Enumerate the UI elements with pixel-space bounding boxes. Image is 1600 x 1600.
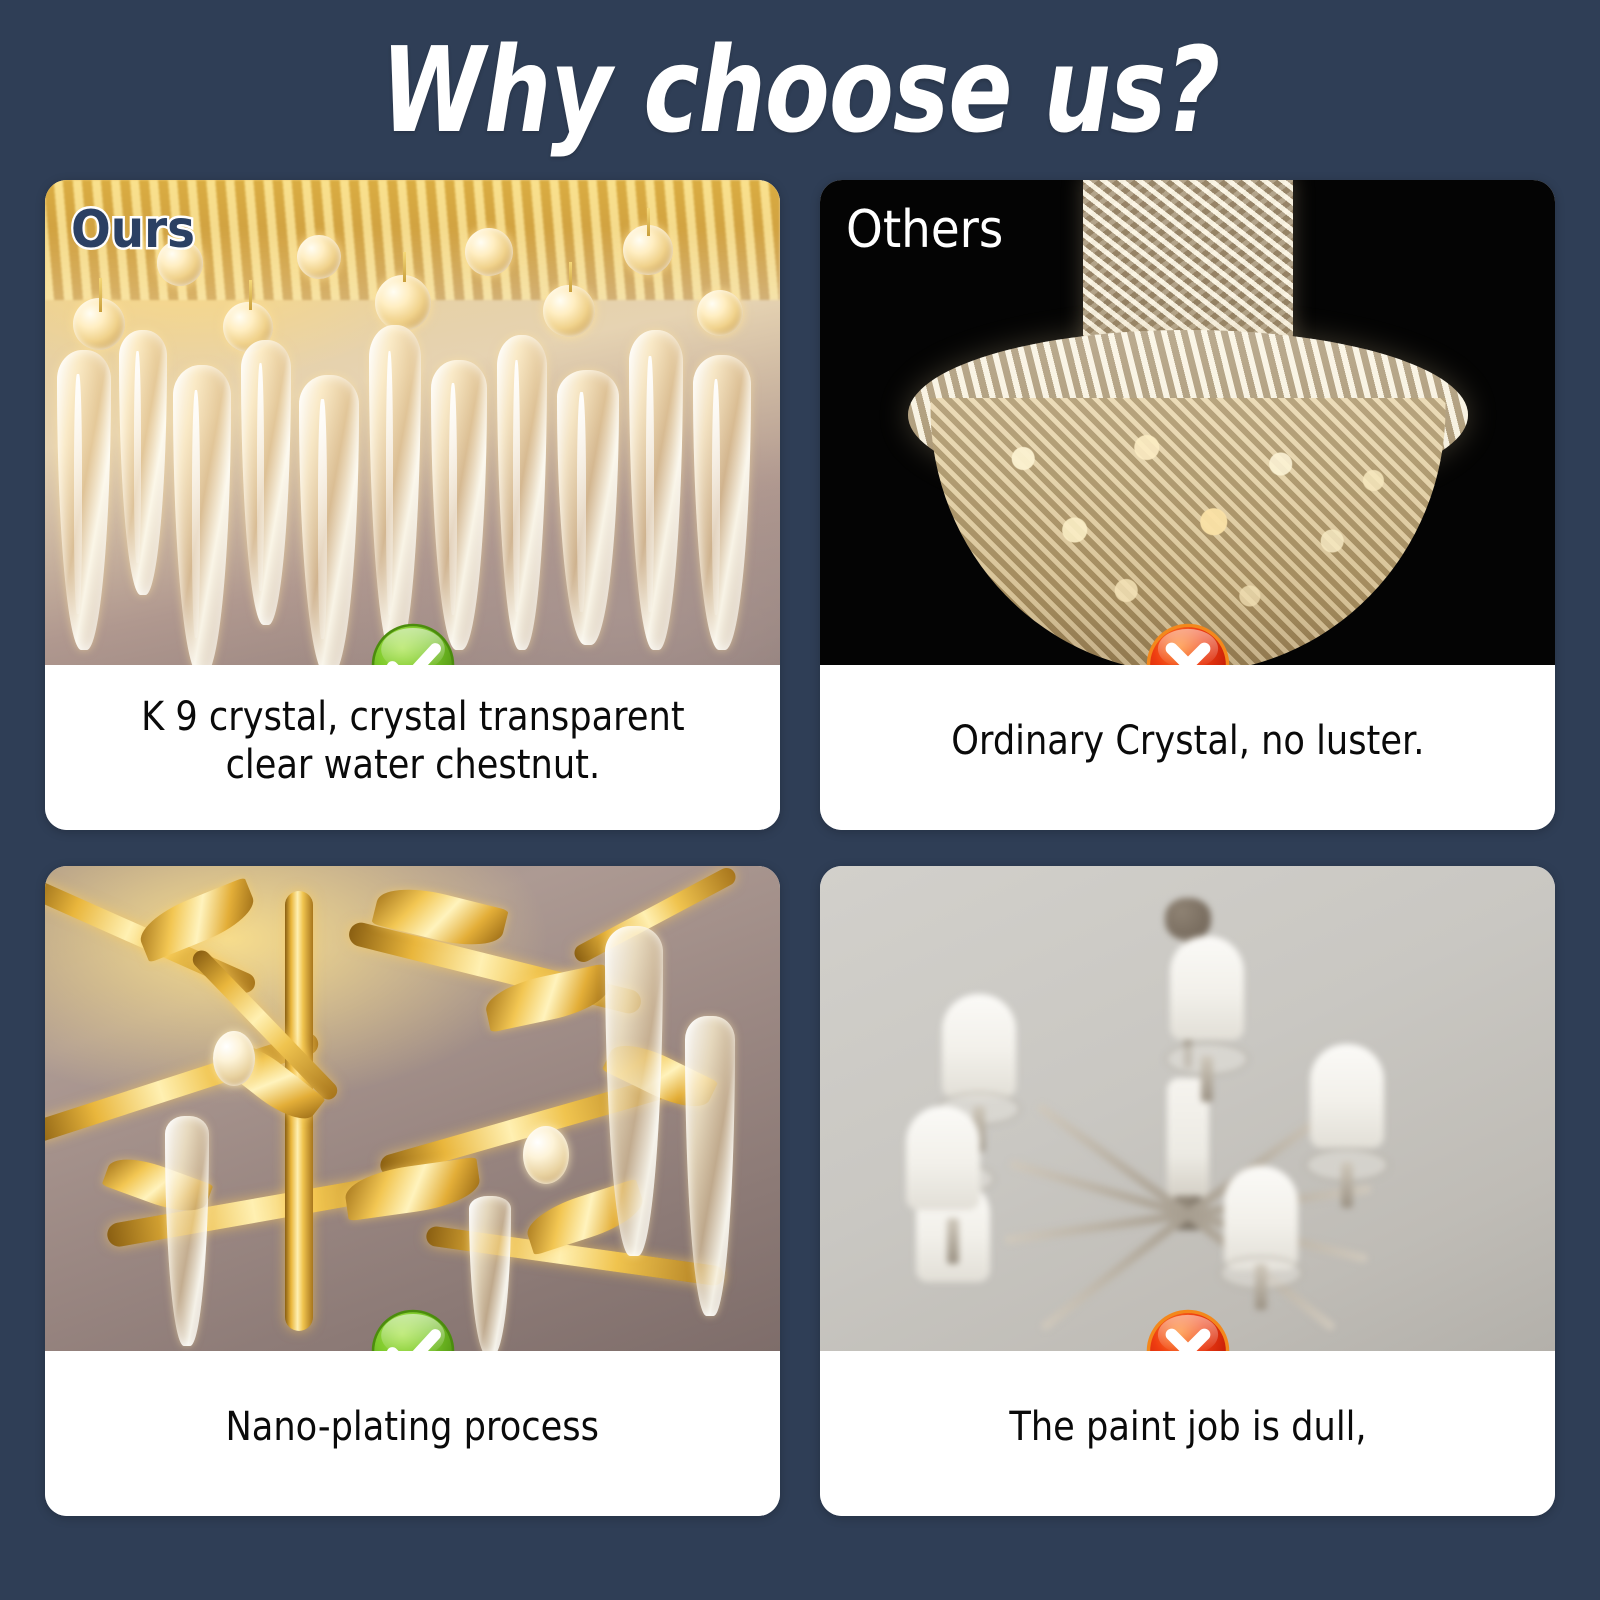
crystal-bead [523,1126,569,1184]
photo-basket-chandelier: Others [820,180,1555,665]
crystal-teardrop [431,360,487,650]
crystal-teardrop [693,355,751,650]
caption-area: The paint job is dull, [820,1351,1555,1516]
card-caption: The paint job is dull, [1009,1404,1366,1451]
hanging-wire [99,278,102,312]
lamp-stub [1255,1264,1267,1310]
crystal-teardrop [165,1116,209,1346]
lamp-shade [942,994,1016,1098]
ceiling-canopy [1165,898,1211,940]
comparison-grid: Ours [0,180,1600,1516]
page-header: Why choose us? [0,0,1600,180]
lamp-stub [947,1218,959,1264]
crystal-teardrop [469,1196,511,1351]
card-caption: K 9 crystal, crystal transparent clear w… [141,694,685,788]
cross-badge [1145,1308,1231,1351]
crystal-teardrop [119,330,167,595]
cross-icon [1145,1308,1231,1351]
photo-crystal-prisms: Ours [45,180,780,665]
crystal-teardrop [57,350,111,650]
lamp-shade [1170,936,1244,1040]
crystal-teardrop [629,330,683,650]
crystal-teardrop [557,370,619,645]
crystal-teardrop [299,375,359,665]
photo-dull-chandelier [820,866,1555,1351]
crystal-bead [375,275,431,331]
caption-area: Nano-plating process [45,1351,780,1516]
lamp-shade [906,1106,980,1210]
cross-icon [1145,622,1231,665]
comparison-card-ours-plating: Nano-plating process [45,866,780,1516]
caption-area: K 9 crystal, crystal transparent clear w… [45,665,780,830]
lamp-stub [1341,1162,1353,1208]
comparison-card-others-plating: The paint job is dull, [820,866,1555,1516]
caption-area: Ordinary Crystal, no luster. [820,665,1555,830]
lamp-shade [1224,1166,1298,1270]
lamp-shade [1310,1044,1384,1148]
crystal-teardrop [173,365,231,665]
crystal-bead [465,228,513,276]
crystal-bead [213,1031,255,1086]
card-label-others: Others [846,204,1003,256]
chandelier-column [1083,180,1293,349]
crystal-bead [543,285,595,337]
lamp-stub [1201,1056,1213,1102]
check-badge [370,1308,456,1351]
crystal-bead [697,290,743,336]
check-icon [370,1308,456,1351]
hanging-wire [403,252,406,282]
crystal-teardrop [497,335,547,650]
crystal-teardrop [241,340,291,625]
crystal-teardrop [369,325,421,655]
hanging-wire [647,208,650,236]
cross-badge [1145,622,1231,665]
crystal-bead [297,235,341,279]
comparison-card-others-crystal: Others [820,180,1555,830]
card-label-ours: Ours [71,204,195,256]
comparison-card-ours-crystal: Ours [45,180,780,830]
page-title: Why choose us? [381,31,1220,149]
hanging-wire [249,280,252,310]
hanging-wire [569,262,572,292]
card-caption: Ordinary Crystal, no luster. [951,718,1424,765]
photo-gold-branches [45,866,780,1351]
gold-leaf [342,1157,482,1221]
check-badge [370,622,456,665]
check-icon [370,622,456,665]
card-caption: Nano-plating process [226,1404,599,1451]
